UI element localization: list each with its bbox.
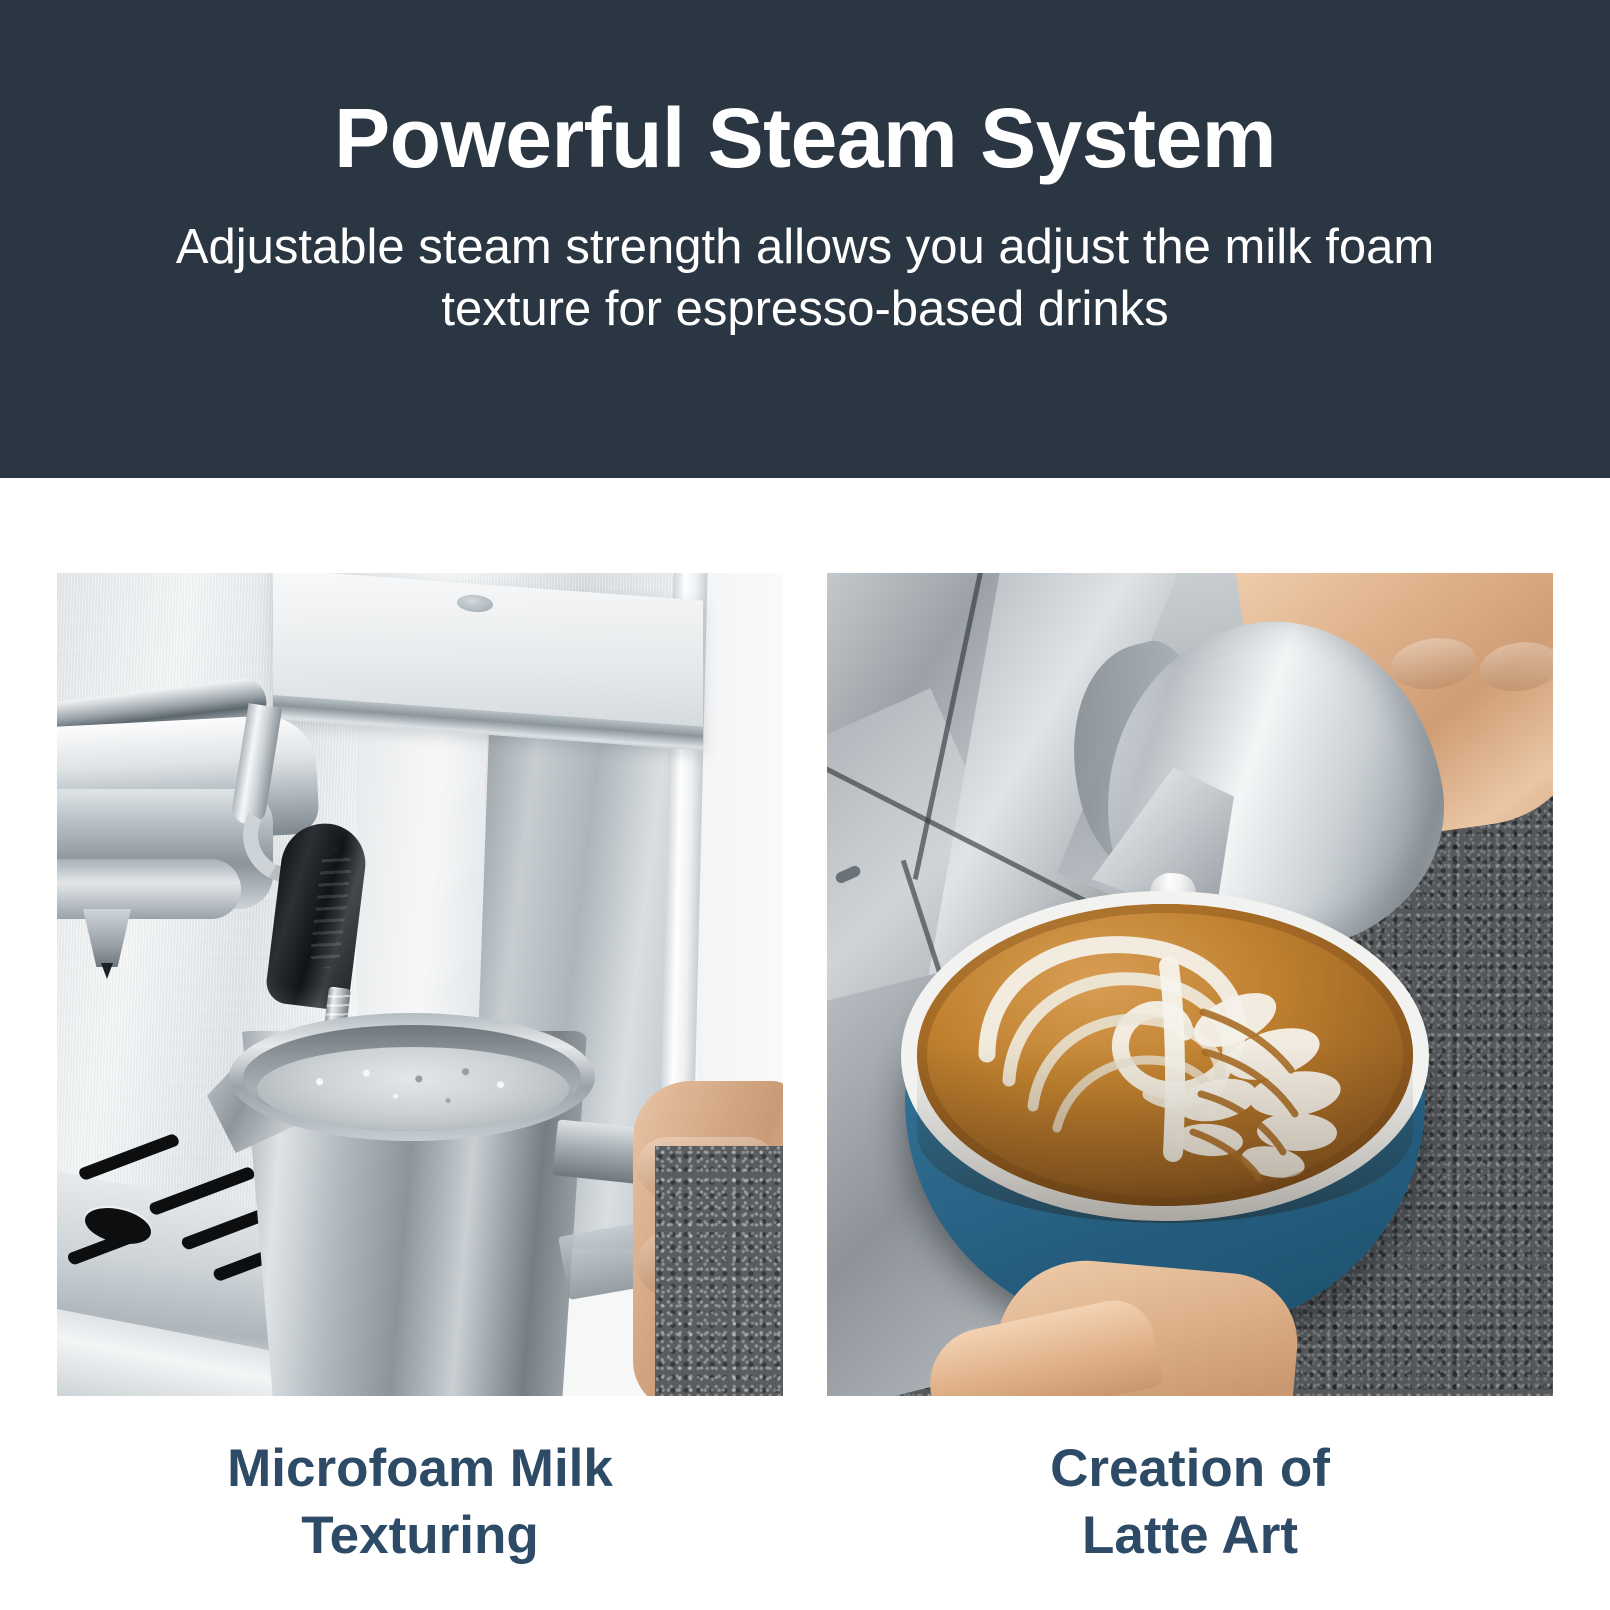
caption-line-1: Microfoam Milk — [57, 1436, 783, 1503]
caption-line-2: Latte Art — [827, 1503, 1553, 1570]
latte-art-scene — [827, 573, 1553, 1396]
page-title: Powerful Steam System — [334, 96, 1276, 182]
countertop-corner — [655, 1146, 783, 1396]
espresso-machine-scene — [57, 573, 783, 1396]
caption-line-2: Texturing — [57, 1503, 783, 1570]
knuckle — [1387, 633, 1479, 694]
product-feature-card: Powerful Steam System Adjustable steam s… — [0, 0, 1610, 1610]
caption-line-1: Creation of — [827, 1436, 1553, 1503]
caption-row: Microfoam Milk Texturing Creation of Lat… — [0, 1436, 1610, 1610]
caption-microfoam-milk-texturing: Microfoam Milk Texturing — [57, 1436, 783, 1570]
photo-creation-of-latte-art — [827, 573, 1553, 1396]
cup-inner-shadow — [917, 1043, 1413, 1223]
knuckle — [1477, 637, 1553, 696]
photo-microfoam-milk-texturing — [57, 573, 783, 1396]
caption-creation-of-latte-art: Creation of Latte Art — [827, 1436, 1553, 1570]
subtitle-line-1: Adjustable steam strength allows you adj… — [176, 220, 1129, 274]
microfoam-milk-surface — [257, 1047, 569, 1131]
header-banner: Powerful Steam System Adjustable steam s… — [0, 0, 1610, 478]
page-subtitle: Adjustable steam strength allows you adj… — [95, 182, 1515, 341]
photo-row — [0, 478, 1610, 1438]
